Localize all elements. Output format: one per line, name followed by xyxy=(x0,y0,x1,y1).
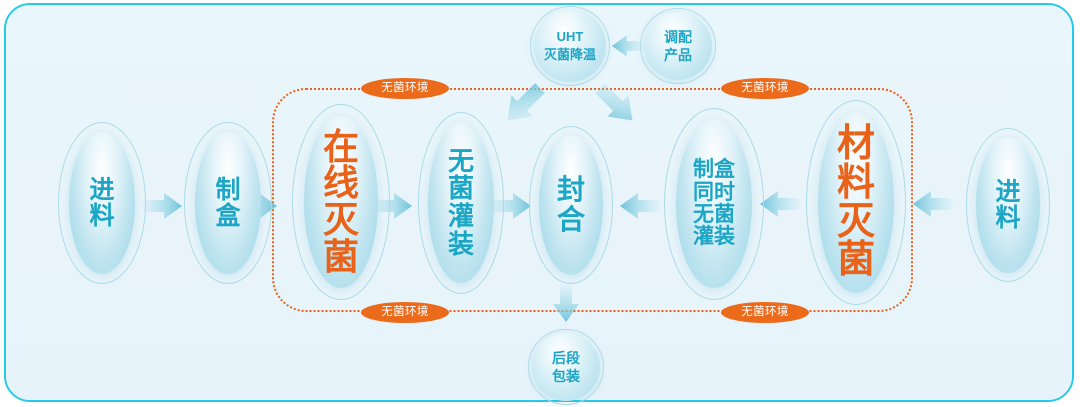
node-inline-sterilization[interactable]: 在 线 灭 菌 xyxy=(292,104,390,300)
node-label: 制盒 同时 无菌 灌装 xyxy=(693,159,735,249)
node-label: 材 料 灭 菌 xyxy=(837,125,875,280)
node-label: 封 合 xyxy=(557,175,585,234)
arrow-feedleft-to-makebox xyxy=(142,193,182,219)
node-box-forming-aseptic-filling[interactable]: 制盒 同时 无菌 灌装 xyxy=(664,108,764,300)
node-make-box[interactable]: 制 盒 xyxy=(184,122,272,284)
node-downstream-packaging[interactable]: 后段 包装 xyxy=(528,329,604,405)
node-feed-right[interactable]: 进 料 xyxy=(966,128,1050,282)
aseptic-badge-top-right: 无菌环境 xyxy=(721,78,809,99)
node-material-sterilization[interactable]: 材 料 灭 菌 xyxy=(806,100,906,305)
arrow-feedright-to-matster xyxy=(913,191,953,217)
node-feed-left[interactable]: 进 料 xyxy=(58,122,146,284)
arrow-matster-to-boxfill xyxy=(760,191,800,217)
node-label: UHT 灭菌降温 xyxy=(544,28,596,63)
node-blended-product[interactable]: 调配 产品 xyxy=(640,8,716,84)
arrow-boxfill-to-seal xyxy=(620,193,660,219)
node-label: 进 料 xyxy=(995,179,1020,231)
diagram-canvas: 无菌环境 无菌环境 无菌环境 无菌环境 xyxy=(0,0,1080,407)
arrow-seal-to-backend xyxy=(553,284,579,322)
node-uht-sterilization-cooling[interactable]: UHT 灭菌降温 xyxy=(530,6,610,86)
node-label: 无 菌 灌 装 xyxy=(448,148,474,258)
aseptic-badge-top-left: 无菌环境 xyxy=(361,78,449,99)
node-aseptic-filling[interactable]: 无 菌 灌 装 xyxy=(418,112,504,294)
aseptic-badge-bottom-left: 无菌环境 xyxy=(361,302,449,323)
aseptic-badge-bottom-right: 无菌环境 xyxy=(721,302,809,323)
node-label: 在 线 灭 菌 xyxy=(323,129,359,276)
node-label: 进 料 xyxy=(89,177,114,229)
node-label: 后段 包装 xyxy=(552,349,580,385)
node-sealing[interactable]: 封 合 xyxy=(529,126,613,284)
node-label: 调配 产品 xyxy=(664,28,692,64)
node-label: 制 盒 xyxy=(215,177,240,229)
